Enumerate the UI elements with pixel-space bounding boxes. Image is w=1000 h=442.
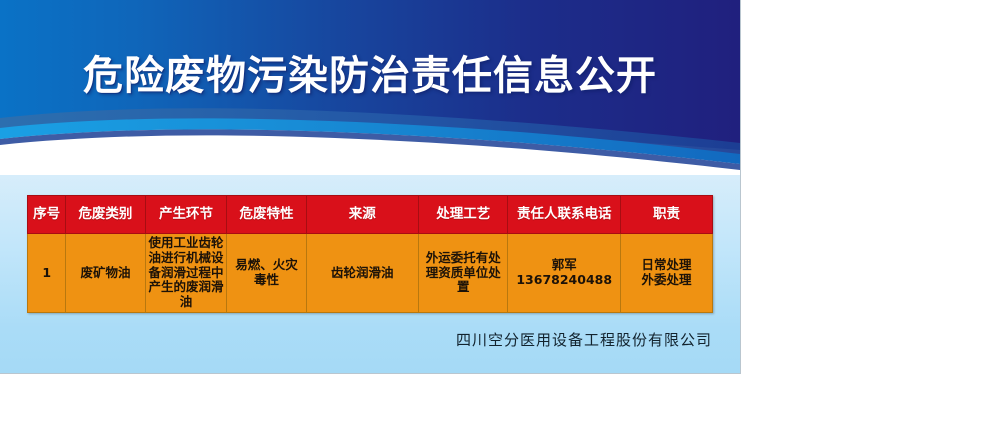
duty-line-2: 外委处理 <box>623 273 710 288</box>
cell-contact: 郭军 13678240488 <box>508 234 620 313</box>
poster-banner: 危险废物污染防治责任信息公开 <box>0 0 740 175</box>
duty-line-1: 日常处理 <box>623 258 710 273</box>
contact-name: 郭军 <box>510 258 617 273</box>
information-disclosure-poster: 危险废物污染防治责任信息公开 序号 危废类别 产生环节 危废特性 来源 处理工艺… <box>0 0 740 373</box>
cell-characteristics: 易燃、火灾毒性 <box>227 234 306 313</box>
contact-phone: 13678240488 <box>510 273 617 288</box>
page-title: 危险废物污染防治责任信息公开 <box>0 43 740 101</box>
table-row: 1 废矿物油 使用工业齿轮油进行机械设备润滑过程中产生的废润滑油 易燃、火灾毒性… <box>28 234 713 313</box>
cell-process: 外运委托有处理资质单位处置 <box>419 234 508 313</box>
cell-source: 齿轮润滑油 <box>306 234 418 313</box>
column-header-index: 序号 <box>28 196 66 234</box>
cell-duty: 日常处理 外委处理 <box>620 234 712 313</box>
cell-index: 1 <box>28 234 66 313</box>
column-header-category: 危废类别 <box>66 196 145 234</box>
table-header-row: 序号 危废类别 产生环节 危废特性 来源 处理工艺 责任人联系电话 职责 <box>28 196 713 234</box>
column-header-stage: 产生环节 <box>145 196 227 234</box>
column-header-duty: 职责 <box>620 196 712 234</box>
company-name: 四川空分医用设备工程股份有限公司 <box>456 329 712 350</box>
column-header-characteristics: 危废特性 <box>227 196 306 234</box>
cell-category: 废矿物油 <box>66 234 145 313</box>
column-header-process: 处理工艺 <box>419 196 508 234</box>
hazardous-waste-table: 序号 危废类别 产生环节 危废特性 来源 处理工艺 责任人联系电话 职责 1 废… <box>27 195 713 313</box>
column-header-contact: 责任人联系电话 <box>508 196 620 234</box>
column-header-source: 来源 <box>306 196 418 234</box>
cell-stage: 使用工业齿轮油进行机械设备润滑过程中产生的废润滑油 <box>145 234 227 313</box>
